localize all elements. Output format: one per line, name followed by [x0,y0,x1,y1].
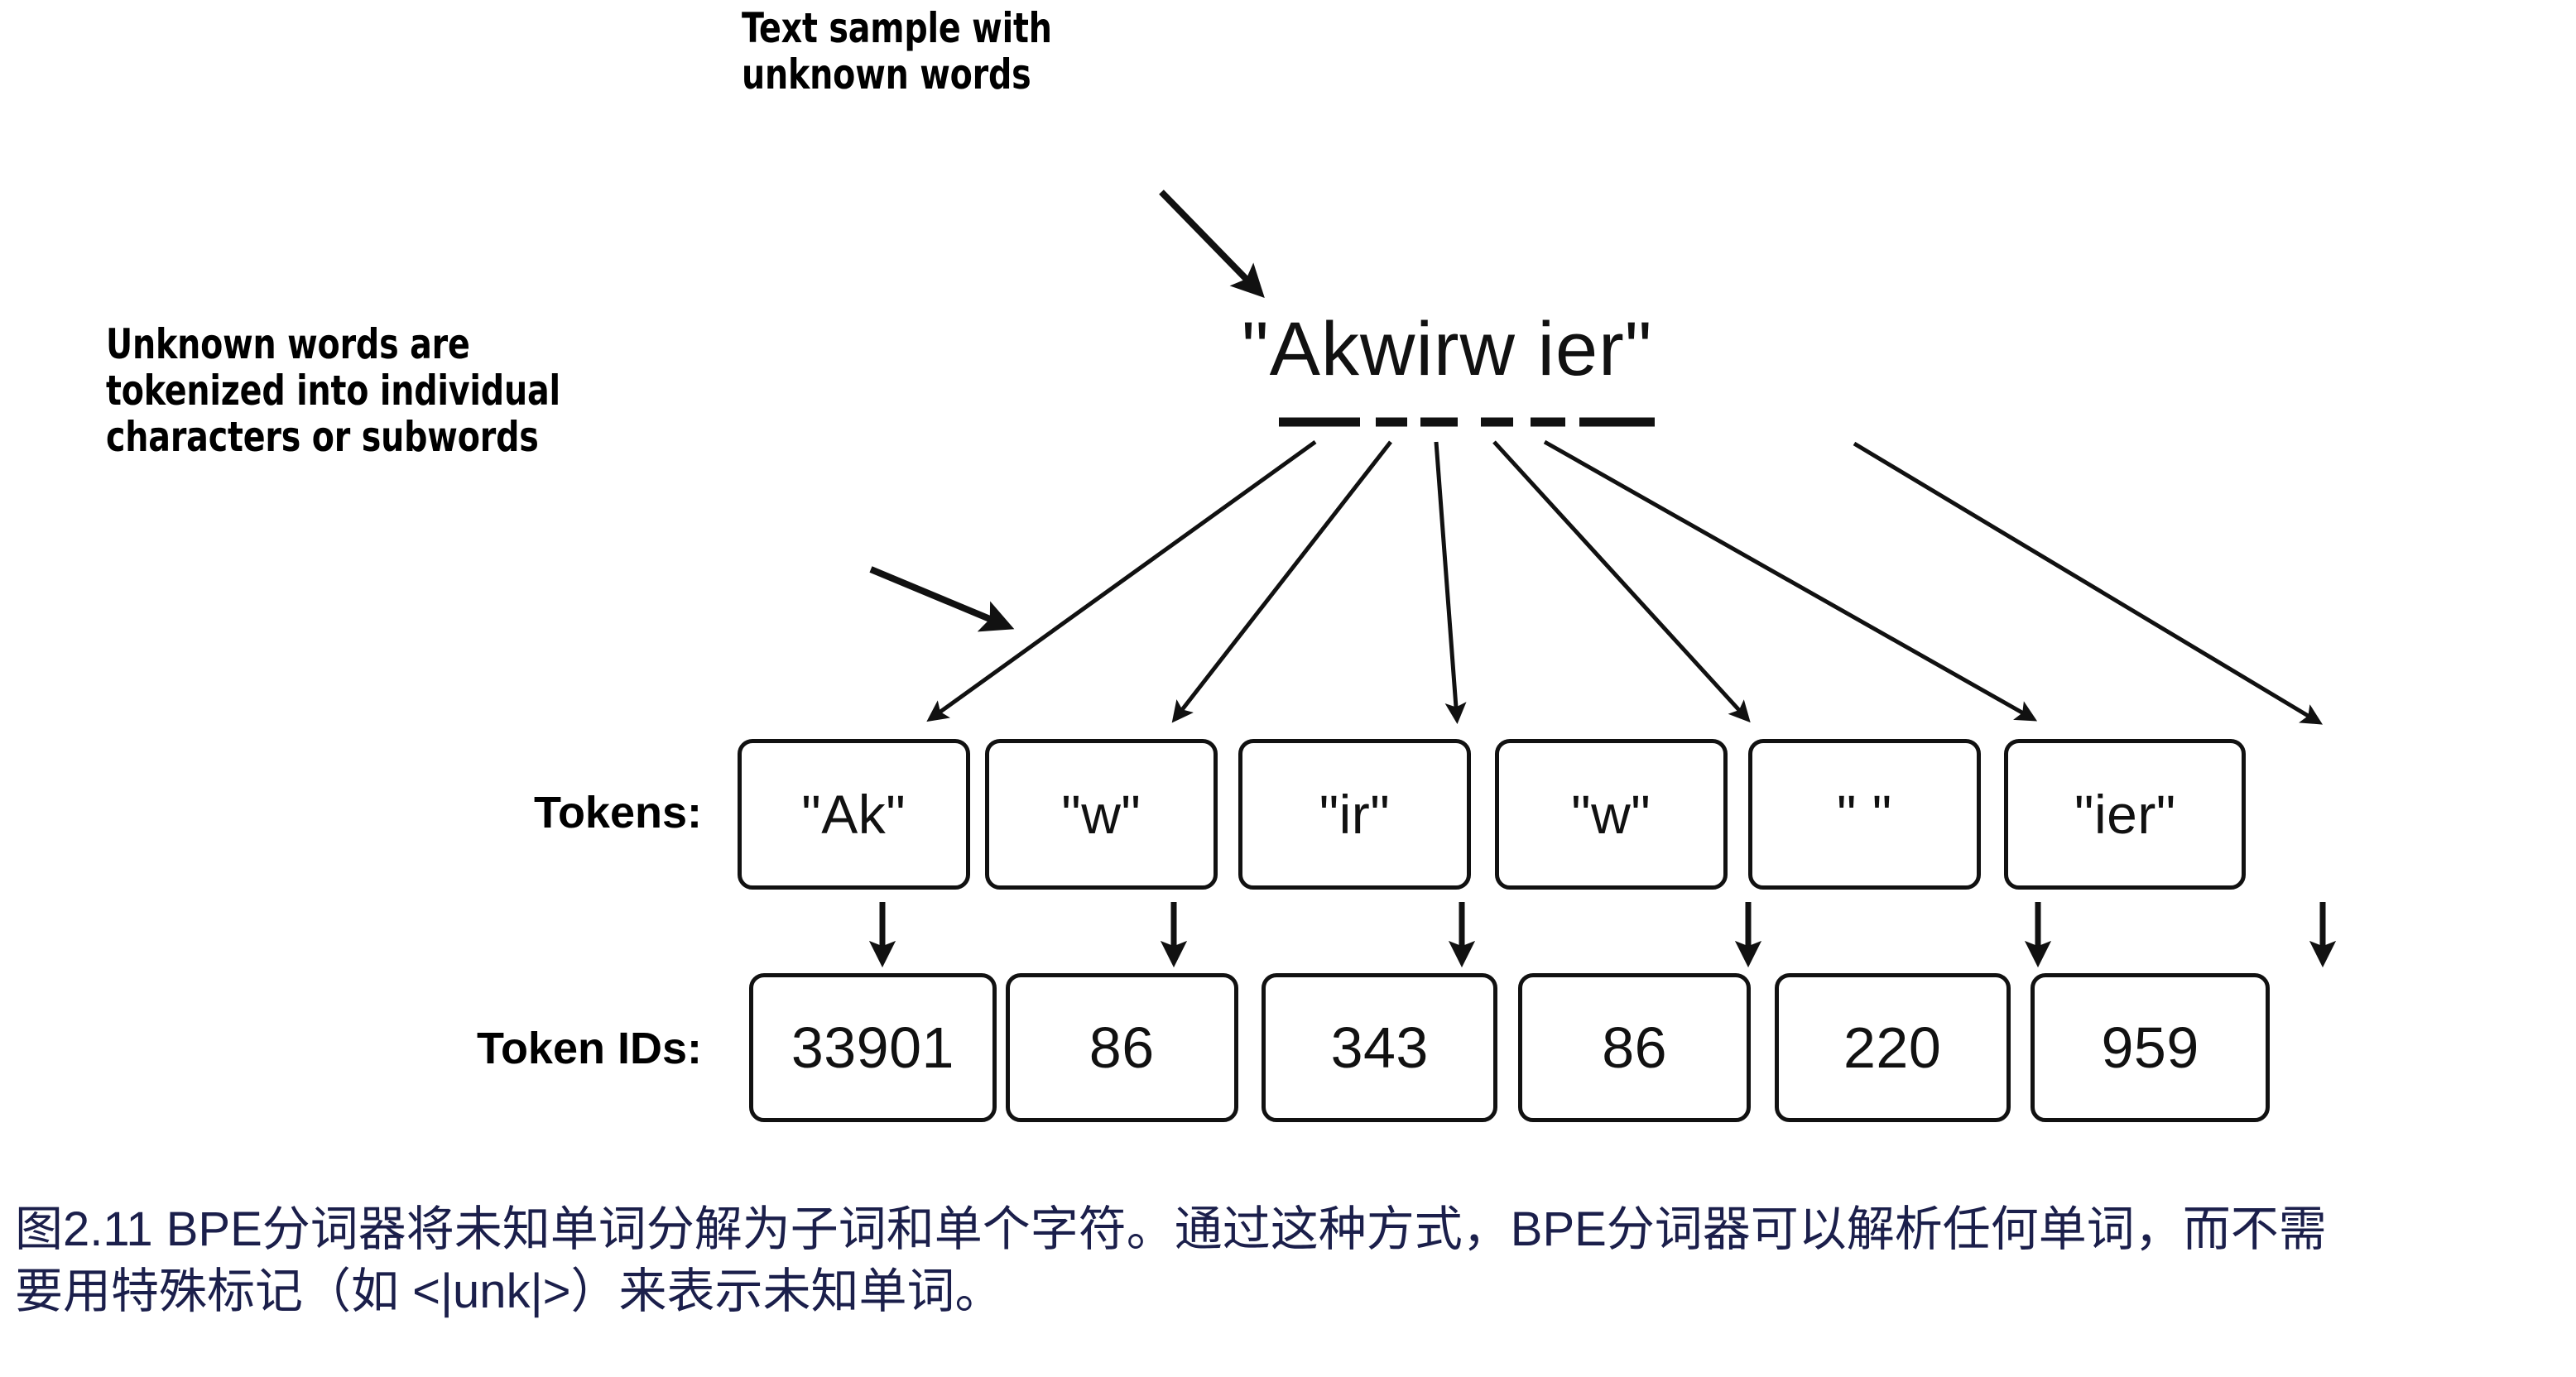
arrow-unknown-words-to-tokens [871,569,1006,626]
row-label-tokens: Tokens: [238,790,702,835]
token-id-box: 33901 [749,973,997,1122]
arrow-segment-4 [1545,442,2032,718]
arrow-segment-1 [1175,442,1391,718]
arrow-segment-2 [1436,442,1457,718]
arrow-segment-0 [931,442,1315,718]
token-id-box: 86 [1006,973,1238,1122]
token-box: "w" [985,739,1218,890]
token-id-box: 220 [1775,973,2011,1122]
token-id-box: 86 [1518,973,1751,1122]
token-box: "ir" [1238,739,1471,890]
callout-unknown-words: Unknown words are tokenized into individ… [106,321,560,460]
arrow-text-sample-to-string [1161,192,1258,291]
figure-canvas: Text sample with unknown words Unknown w… [0,0,2576,1377]
token-box: " " [1748,739,1981,890]
figure-caption: 图2.11 BPE分词器将未知单词分解为子词和单个字符。通过这种方式，BPE分词… [15,1198,2564,1323]
arrow-layer [0,0,2576,1377]
caption-line: 要用特殊标记（如 <|unk|>）来表示未知单词。 [15,1260,2564,1322]
row-label-token-ids: Token IDs: [238,1026,702,1071]
token-id-box: 343 [1262,973,1497,1122]
token-box: "Ak" [738,739,970,890]
caption-line: 图2.11 BPE分词器将未知单词分解为子词和单个字符。通过这种方式，BPE分词… [15,1198,2564,1260]
token-id-box: 959 [2031,973,2269,1122]
token-box: "ier" [2004,739,2246,890]
sample-string: "Akwirw ier" [1242,311,1652,387]
token-box: "w" [1495,739,1728,890]
arrow-segment-3 [1494,442,1747,718]
arrow-segment-5 [1854,444,2318,722]
callout-text-sample: Text sample with unknown words [742,5,1052,98]
